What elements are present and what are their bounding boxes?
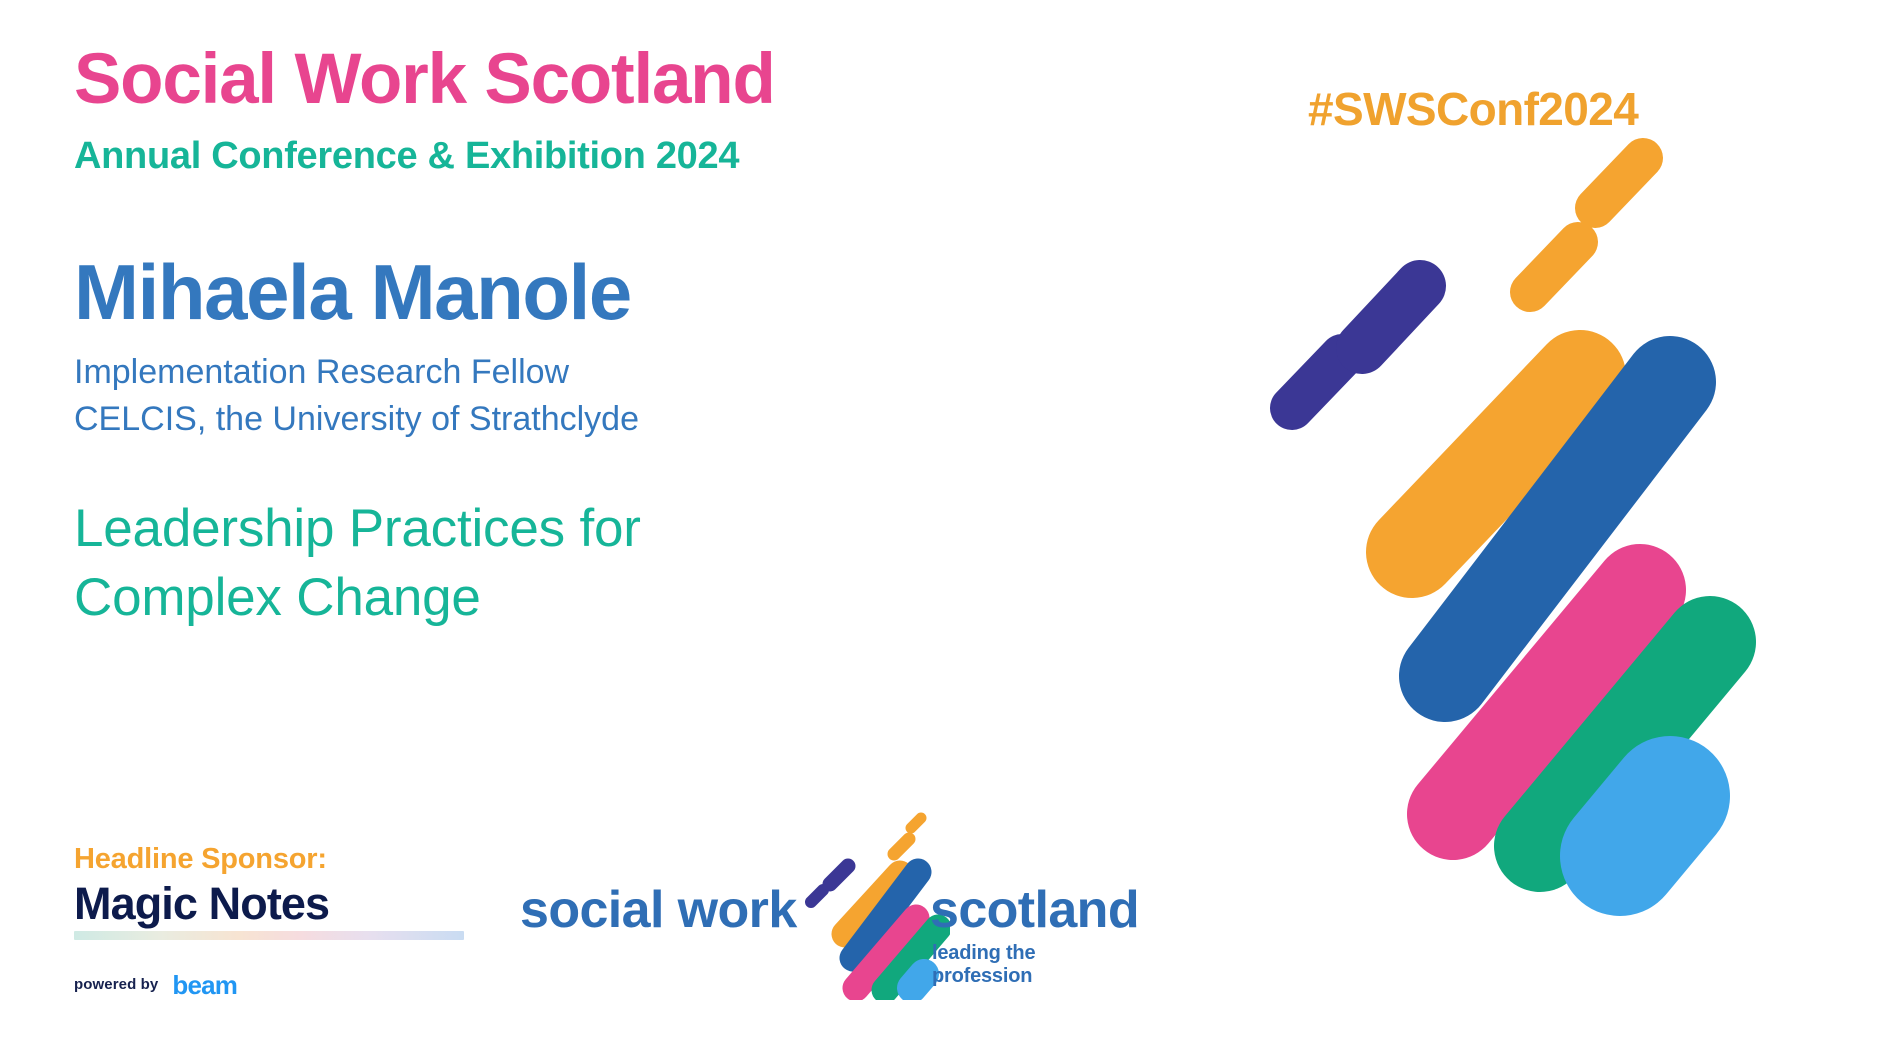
- social-work-scotland-logo: social work: [520, 810, 1140, 1000]
- talk-title-line-2: Complex Change: [74, 564, 1104, 633]
- sponsor-name: Magic Notes: [74, 880, 494, 929]
- logo-tagline: leading the profession: [932, 942, 1140, 988]
- talk-title-line-1: Leadership Practices for: [74, 495, 1104, 564]
- speaker-role-line-1: Implementation Research Fellow: [74, 349, 1104, 396]
- powered-by-block: powered by beam: [74, 973, 494, 998]
- event-subtitle: Annual Conference & Exhibition 2024: [74, 137, 1104, 175]
- beam-logo: beam: [172, 973, 237, 998]
- organisation-title: Social Work Scotland: [74, 44, 1104, 115]
- speaker-name: Mihaela Manole: [74, 253, 1104, 331]
- sponsor-label: Headline Sponsor:: [74, 845, 494, 874]
- powered-by-label: powered by: [74, 976, 158, 993]
- speaker-role-line-2: CELCIS, the University of Strathclyde: [74, 396, 1104, 443]
- sws-bars-icon: [790, 810, 950, 1000]
- logo-word-social-work: social work: [520, 884, 797, 936]
- sponsor-block: Headline Sponsor: Magic Notes powered by…: [74, 845, 494, 997]
- conference-slide: Social Work Scotland Annual Conference &…: [0, 0, 1890, 1063]
- beam-wordmark: beam: [172, 973, 237, 998]
- logo-word-scotland: scotland: [930, 884, 1139, 936]
- speaker-role-block: Implementation Research Fellow CELCIS, t…: [74, 349, 1104, 443]
- headline-block: Social Work Scotland Annual Conference &…: [74, 44, 1104, 633]
- sponsor-gradient-rule: [74, 931, 464, 940]
- swoosh-bars-graphic: [1240, 120, 1890, 980]
- talk-title-block: Leadership Practices for Complex Change: [74, 495, 1104, 633]
